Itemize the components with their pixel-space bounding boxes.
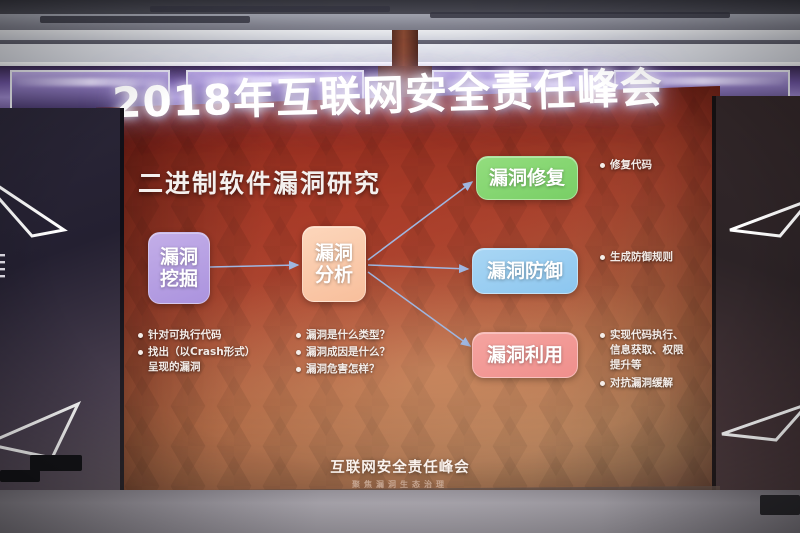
stage-equipment xyxy=(760,495,800,515)
bullet-dot-icon xyxy=(600,333,605,338)
triangle-arrow-icon xyxy=(0,166,92,246)
bullets-discovery: 针对可执行代码 找出（以Crash形式） 呈现的漏洞 xyxy=(138,328,288,378)
list-item: 漏洞危害怎样？ xyxy=(296,362,456,377)
bullet-text: 找出（以Crash形式） 呈现的漏洞 xyxy=(148,345,255,375)
bullet-dot-icon xyxy=(296,333,301,338)
bullets-fix: 修复代码 xyxy=(600,158,710,175)
list-item: 针对可执行代码 xyxy=(138,328,288,343)
node-label-line2: 分析 xyxy=(315,264,353,286)
right-dark-panel xyxy=(712,96,800,533)
bullet-dot-icon xyxy=(296,350,301,355)
node-vulnerability-analysis[interactable]: 漏洞 分析 xyxy=(302,226,366,302)
node-vulnerability-fix[interactable]: 漏洞修复 xyxy=(476,156,578,200)
bullet-dot-icon xyxy=(600,163,605,168)
bullet-text: 实现代码执行、 信息获取、权限 提升等 xyxy=(610,328,684,374)
bullet-text: 对抗漏洞缓解 xyxy=(610,376,673,391)
panel-edge xyxy=(712,96,716,533)
bullet-dot-icon xyxy=(600,381,605,386)
bullet-dot-icon xyxy=(296,367,301,372)
ceiling-slot xyxy=(150,6,390,12)
bullet-text: 针对可执行代码 xyxy=(148,328,222,343)
node-label-line1: 漏洞 xyxy=(315,242,353,264)
bullet-text: 修复代码 xyxy=(610,158,652,173)
dash-marks-icon xyxy=(0,254,16,294)
arrow-discover-to-analyze xyxy=(210,265,298,267)
bullet-dot-icon xyxy=(138,350,143,355)
node-vulnerability-defense[interactable]: 漏洞防御 xyxy=(472,248,578,294)
list-item: 对抗漏洞缓解 xyxy=(600,376,718,391)
floor-shading xyxy=(0,490,800,533)
node-vulnerability-discovery[interactable]: 漏洞 挖掘 xyxy=(148,232,210,304)
list-item: 漏洞成因是什么？ xyxy=(296,345,456,360)
conference-stage-photo: 2018年互联网安全责任峰会 二进制软件漏洞研究 漏洞 挖掘 漏洞 分析 漏洞修… xyxy=(0,0,800,533)
window-light-glow xyxy=(622,77,784,85)
node-vulnerability-exploit[interactable]: 漏洞利用 xyxy=(472,332,578,378)
presentation-slide: 二进制软件漏洞研究 漏洞 挖掘 漏洞 分析 漏洞修复 漏洞防御 漏洞利用 针对可… xyxy=(120,132,700,402)
list-item: 修复代码 xyxy=(600,158,710,173)
triangle-arrow-icon xyxy=(724,196,800,246)
list-item: 生成防御规则 xyxy=(600,250,720,265)
list-item: 漏洞是什么类型？ xyxy=(296,328,456,343)
window-light-glow xyxy=(16,78,166,86)
window-light-glow xyxy=(192,76,358,84)
stage-equipment xyxy=(30,455,82,471)
bullet-text: 漏洞成因是什么？ xyxy=(306,345,390,360)
window-pane xyxy=(10,70,170,110)
list-item: 找出（以Crash形式） 呈现的漏洞 xyxy=(138,345,288,375)
bullet-text: 漏洞危害怎样？ xyxy=(306,362,380,377)
bullet-dot-icon xyxy=(600,255,605,260)
floor xyxy=(0,490,800,533)
bullet-text: 生成防御规则 xyxy=(610,250,673,265)
triangle-arrow-icon xyxy=(718,396,800,446)
panel-edge xyxy=(120,108,124,533)
bullet-dot-icon xyxy=(138,333,143,338)
bullet-text: 漏洞是什么类型？ xyxy=(306,328,390,343)
arrow-analyze-to-defend xyxy=(368,265,468,269)
ceiling-slot xyxy=(40,16,250,23)
window-light-glow xyxy=(440,80,594,88)
bullets-exploit: 实现代码执行、 信息获取、权限 提升等 对抗漏洞缓解 xyxy=(600,328,718,393)
ceiling-slot xyxy=(430,12,730,18)
triangle-arrow-icon xyxy=(0,386,92,466)
node-label-line1: 漏洞 xyxy=(160,246,198,268)
footer-logo-text: 互联网安全责任峰会 xyxy=(300,456,500,477)
list-item: 实现代码执行、 信息获取、权限 提升等 xyxy=(600,328,718,374)
stage-equipment xyxy=(0,470,40,482)
arrow-analyze-to-fix xyxy=(368,182,472,260)
bullets-defense: 生成防御规则 xyxy=(600,250,720,267)
node-label-line2: 挖掘 xyxy=(160,268,198,290)
bullets-analysis: 漏洞是什么类型？ 漏洞成因是什么？ 漏洞危害怎样？ xyxy=(296,328,456,380)
